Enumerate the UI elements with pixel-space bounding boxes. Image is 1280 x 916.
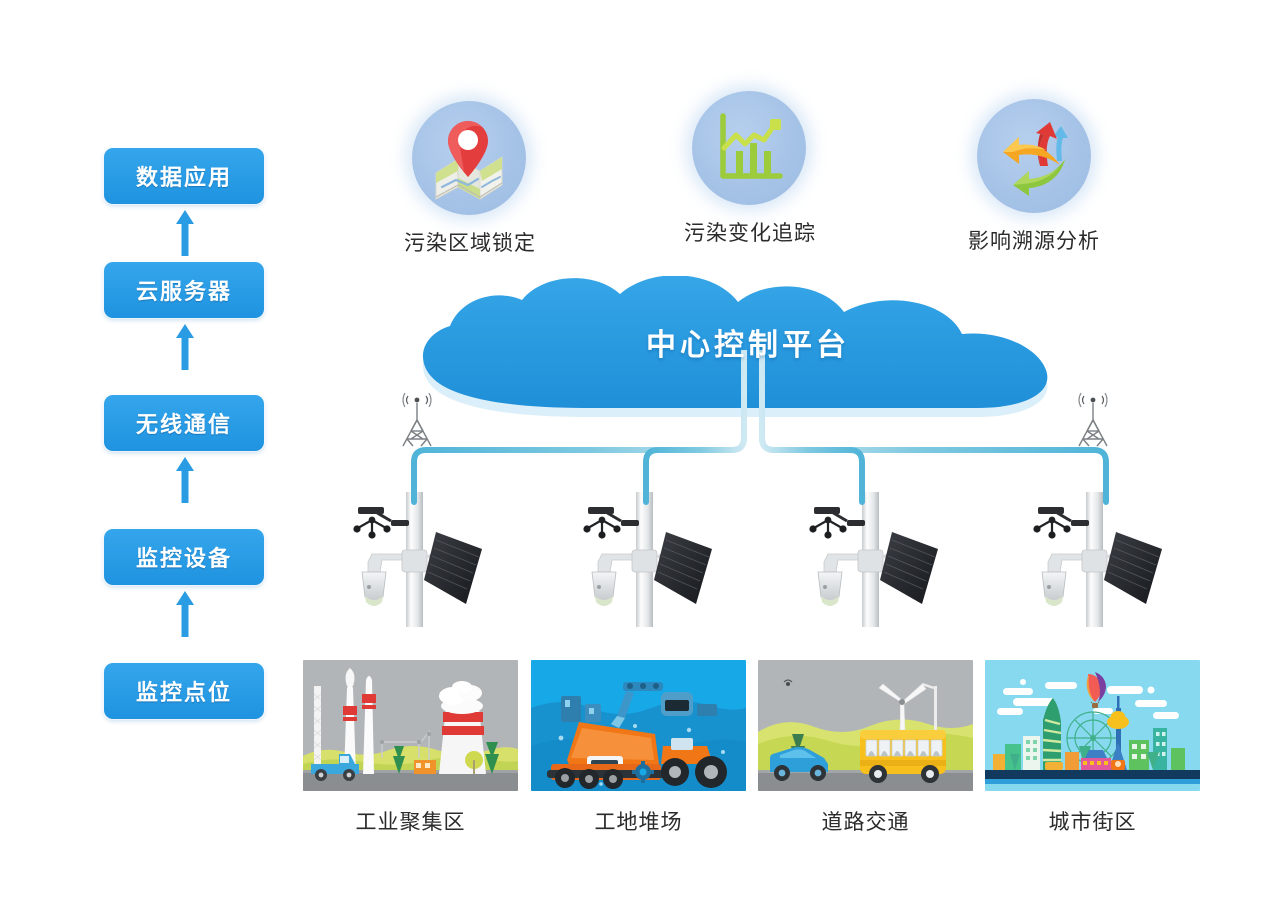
- stage-label: 监控设备: [136, 541, 232, 573]
- scene-label: 城市街区: [985, 806, 1200, 836]
- stage-box-wireless-communication[interactable]: 无线通信: [104, 395, 264, 451]
- multi-arrow-analysis-icon: [977, 99, 1091, 213]
- feature-label: 污染区域锁定: [404, 227, 534, 257]
- stage-label: 监控点位: [136, 675, 232, 707]
- arrow-up-icon: [175, 457, 195, 503]
- feature-label: 影响溯源分析: [964, 225, 1104, 255]
- stage-label: 无线通信: [136, 407, 232, 439]
- stage-box-cloud-server[interactable]: 云服务器: [104, 262, 264, 318]
- scene-label: 工业聚集区: [303, 806, 518, 836]
- map-pin-icon: [412, 101, 526, 215]
- scene-card-industrial-zone[interactable]: 工业聚集区: [303, 660, 518, 791]
- stage-label: 数据应用: [136, 160, 232, 192]
- network-connector-lines: [390, 350, 1130, 520]
- road-traffic-image: [758, 660, 973, 791]
- scene-card-road-traffic[interactable]: 道路交通: [758, 660, 973, 791]
- scene-label: 工地堆场: [531, 806, 746, 836]
- stage-label: 云服务器: [136, 274, 232, 306]
- scene-label: 道路交通: [758, 806, 973, 836]
- industrial-zone-image: [303, 660, 518, 791]
- feature-pollution-change-tracking[interactable]: 污染变化追踪: [684, 91, 814, 247]
- feature-label: 污染变化追踪: [684, 217, 814, 247]
- stage-box-data-application[interactable]: 数据应用: [104, 148, 264, 204]
- scene-card-city-district[interactable]: 城市街区: [985, 660, 1200, 791]
- stage-box-monitoring-equipment[interactable]: 监控设备: [104, 529, 264, 585]
- bar-chart-trend-icon: [692, 91, 806, 205]
- construction-site-image: [531, 660, 746, 791]
- stage-box-monitoring-point[interactable]: 监控点位: [104, 663, 264, 719]
- feature-impact-source-analysis[interactable]: 影响溯源分析: [964, 99, 1104, 255]
- arrow-up-icon: [175, 210, 195, 256]
- arrow-up-icon: [175, 324, 195, 370]
- city-district-image: [985, 660, 1200, 791]
- scene-card-construction-site[interactable]: 工地堆场: [531, 660, 746, 791]
- arrow-up-icon: [175, 591, 195, 637]
- feature-pollution-area-lock[interactable]: 污染区域锁定: [404, 101, 534, 257]
- system-layer-pipeline: 数据应用 云服务器 无线通信 监控设备 监控点位: [104, 148, 266, 740]
